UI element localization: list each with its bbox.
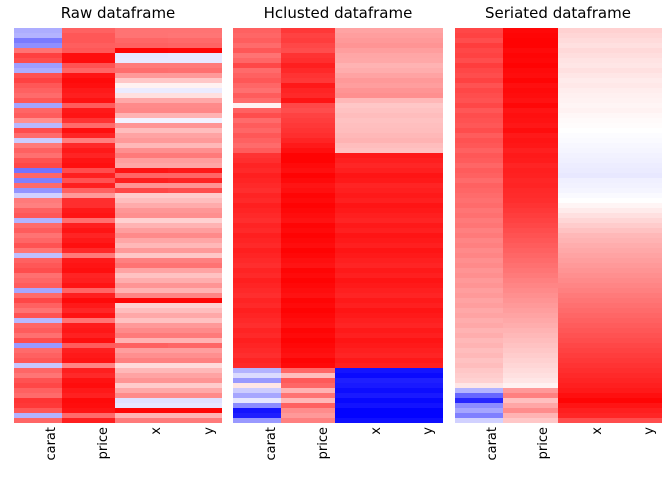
heatmap-column-carat [233, 28, 281, 423]
heatmap-column-y [168, 28, 222, 423]
heatmap-cell [62, 418, 115, 423]
heatmap-cell [14, 418, 62, 423]
heatmap-column-x [335, 28, 389, 423]
tick-label-y: y [642, 427, 657, 435]
heatmap-cell [281, 418, 335, 423]
heatmap-column-x [115, 28, 168, 423]
tick-label-carat: carat [485, 427, 500, 461]
heatmap-seriated [455, 28, 662, 423]
heatmap-column-y [610, 28, 662, 423]
heatmap-cell [610, 418, 662, 423]
tick-labels-seriated: caratpricexy [0, 427, 672, 480]
heatmap-column-price [503, 28, 558, 423]
heatmap-cell [389, 418, 443, 423]
heatmap-column-carat [14, 28, 62, 423]
heatmap-column-price [62, 28, 115, 423]
tick-label-price: price [536, 427, 551, 459]
panel-title-seriated: Seriated dataframe [408, 4, 672, 22]
tick-label-x: x [590, 427, 605, 435]
heatmap-raw [14, 28, 222, 423]
heatmap-cell [233, 418, 281, 423]
heatmap-column-carat [455, 28, 503, 423]
heatmap-cell [168, 418, 222, 423]
heatmap-cell [503, 418, 558, 423]
heatmap-column-y [389, 28, 443, 423]
heatmap-cell [335, 418, 389, 423]
heatmap-column-x [558, 28, 610, 423]
heatmap-cell [455, 418, 503, 423]
matplotlib-figure: Raw dataframe caratpricexy Hclusted data… [0, 0, 672, 480]
heatmap-hclusted [233, 28, 443, 423]
heatmap-cell [115, 418, 168, 423]
heatmap-cell [558, 418, 610, 423]
heatmap-column-price [281, 28, 335, 423]
